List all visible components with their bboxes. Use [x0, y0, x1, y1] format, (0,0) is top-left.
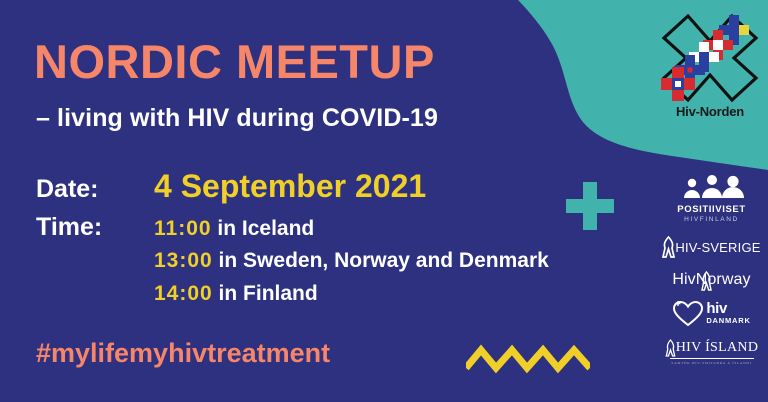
sponsor-subtitle: SAMTÖK HIV-SMITAÐRA Á ÍSLANDI	[665, 361, 758, 365]
sponsor-name: HIV ÍSLAND	[676, 340, 758, 356]
time-list: 11:00 in Iceland 13:00 in Sweden, Norway…	[154, 216, 549, 307]
time-location: in Iceland	[212, 217, 315, 240]
sponsor-name: HIV-SVERIGE	[675, 240, 760, 255]
time-label: Time:	[36, 211, 154, 243]
hiv-norden-wordmark: Hiv-Norden	[660, 104, 760, 119]
time-value: 14:00	[154, 282, 213, 305]
banner-content: NORDIC MEETUP – living with HIV during C…	[34, 0, 654, 402]
event-banner: NORDIC MEETUP – living with HIV during C…	[0, 0, 768, 402]
time-value: 13:00	[154, 249, 213, 272]
page-title: NORDIC MEETUP	[34, 38, 435, 85]
yellow-zigzag-icon	[466, 344, 590, 374]
sponsor-positiiviset: POSITIIVISET HIVFINLAND	[677, 174, 745, 223]
date-label: Date:	[36, 173, 154, 205]
time-value: 11:00	[154, 217, 212, 240]
sponsor-hivnorway: HivNorway	[672, 271, 750, 289]
time-location: in Sweden, Norway and Denmark	[213, 249, 549, 272]
list-item: 14:00 in Finland	[154, 281, 549, 307]
time-row: Time: 11:00 in Iceland 13:00 in Sweden, …	[36, 211, 656, 307]
sponsor-hiv-island: HIV ÍSLAND SAMTÖK HIV-SMITAÐRA Á ÍSLANDI	[665, 339, 758, 365]
sponsor-logos: POSITIIVISET HIVFINLAND HIV-SVERIGE HivN…	[655, 172, 768, 365]
sponsor-name: hiv	[706, 301, 750, 316]
page-subtitle: – living with HIV during COVID-19	[36, 106, 438, 131]
sponsor-subtitle: DANMARK	[706, 317, 750, 325]
teal-plus-icon	[566, 182, 614, 230]
sponsor-subtitle: HIVFINLAND	[677, 216, 745, 223]
list-item: 13:00 in Sweden, Norway and Denmark	[154, 248, 549, 274]
campaign-hashtag: #mylifemyhivtreatment	[36, 340, 330, 367]
time-location: in Finland	[213, 282, 318, 305]
hiv-norden-logo: Hiv-Norden	[660, 12, 760, 122]
awareness-ribbon-icon	[665, 339, 676, 357]
sponsor-name: POSITIIVISET	[677, 204, 745, 215]
date-row: Date: 4 September 2021	[36, 170, 656, 205]
sponsor-hiv-danmark: hiv DANMARK	[672, 299, 750, 327]
three-people-icon	[678, 174, 746, 198]
awareness-ribbon-icon	[701, 271, 712, 291]
awareness-ribbon-icon	[662, 236, 675, 258]
list-item: 11:00 in Iceland	[154, 216, 549, 242]
sponsor-hiv-sverige: HIV-SVERIGE	[662, 236, 760, 258]
event-details: Date: 4 September 2021 Time: 11:00 in Ic…	[36, 170, 656, 307]
heart-plus-icon	[672, 299, 704, 327]
x-cross-nordic-flags-icon	[660, 12, 760, 104]
date-value: 4 September 2021	[154, 170, 426, 202]
divider	[670, 358, 754, 359]
